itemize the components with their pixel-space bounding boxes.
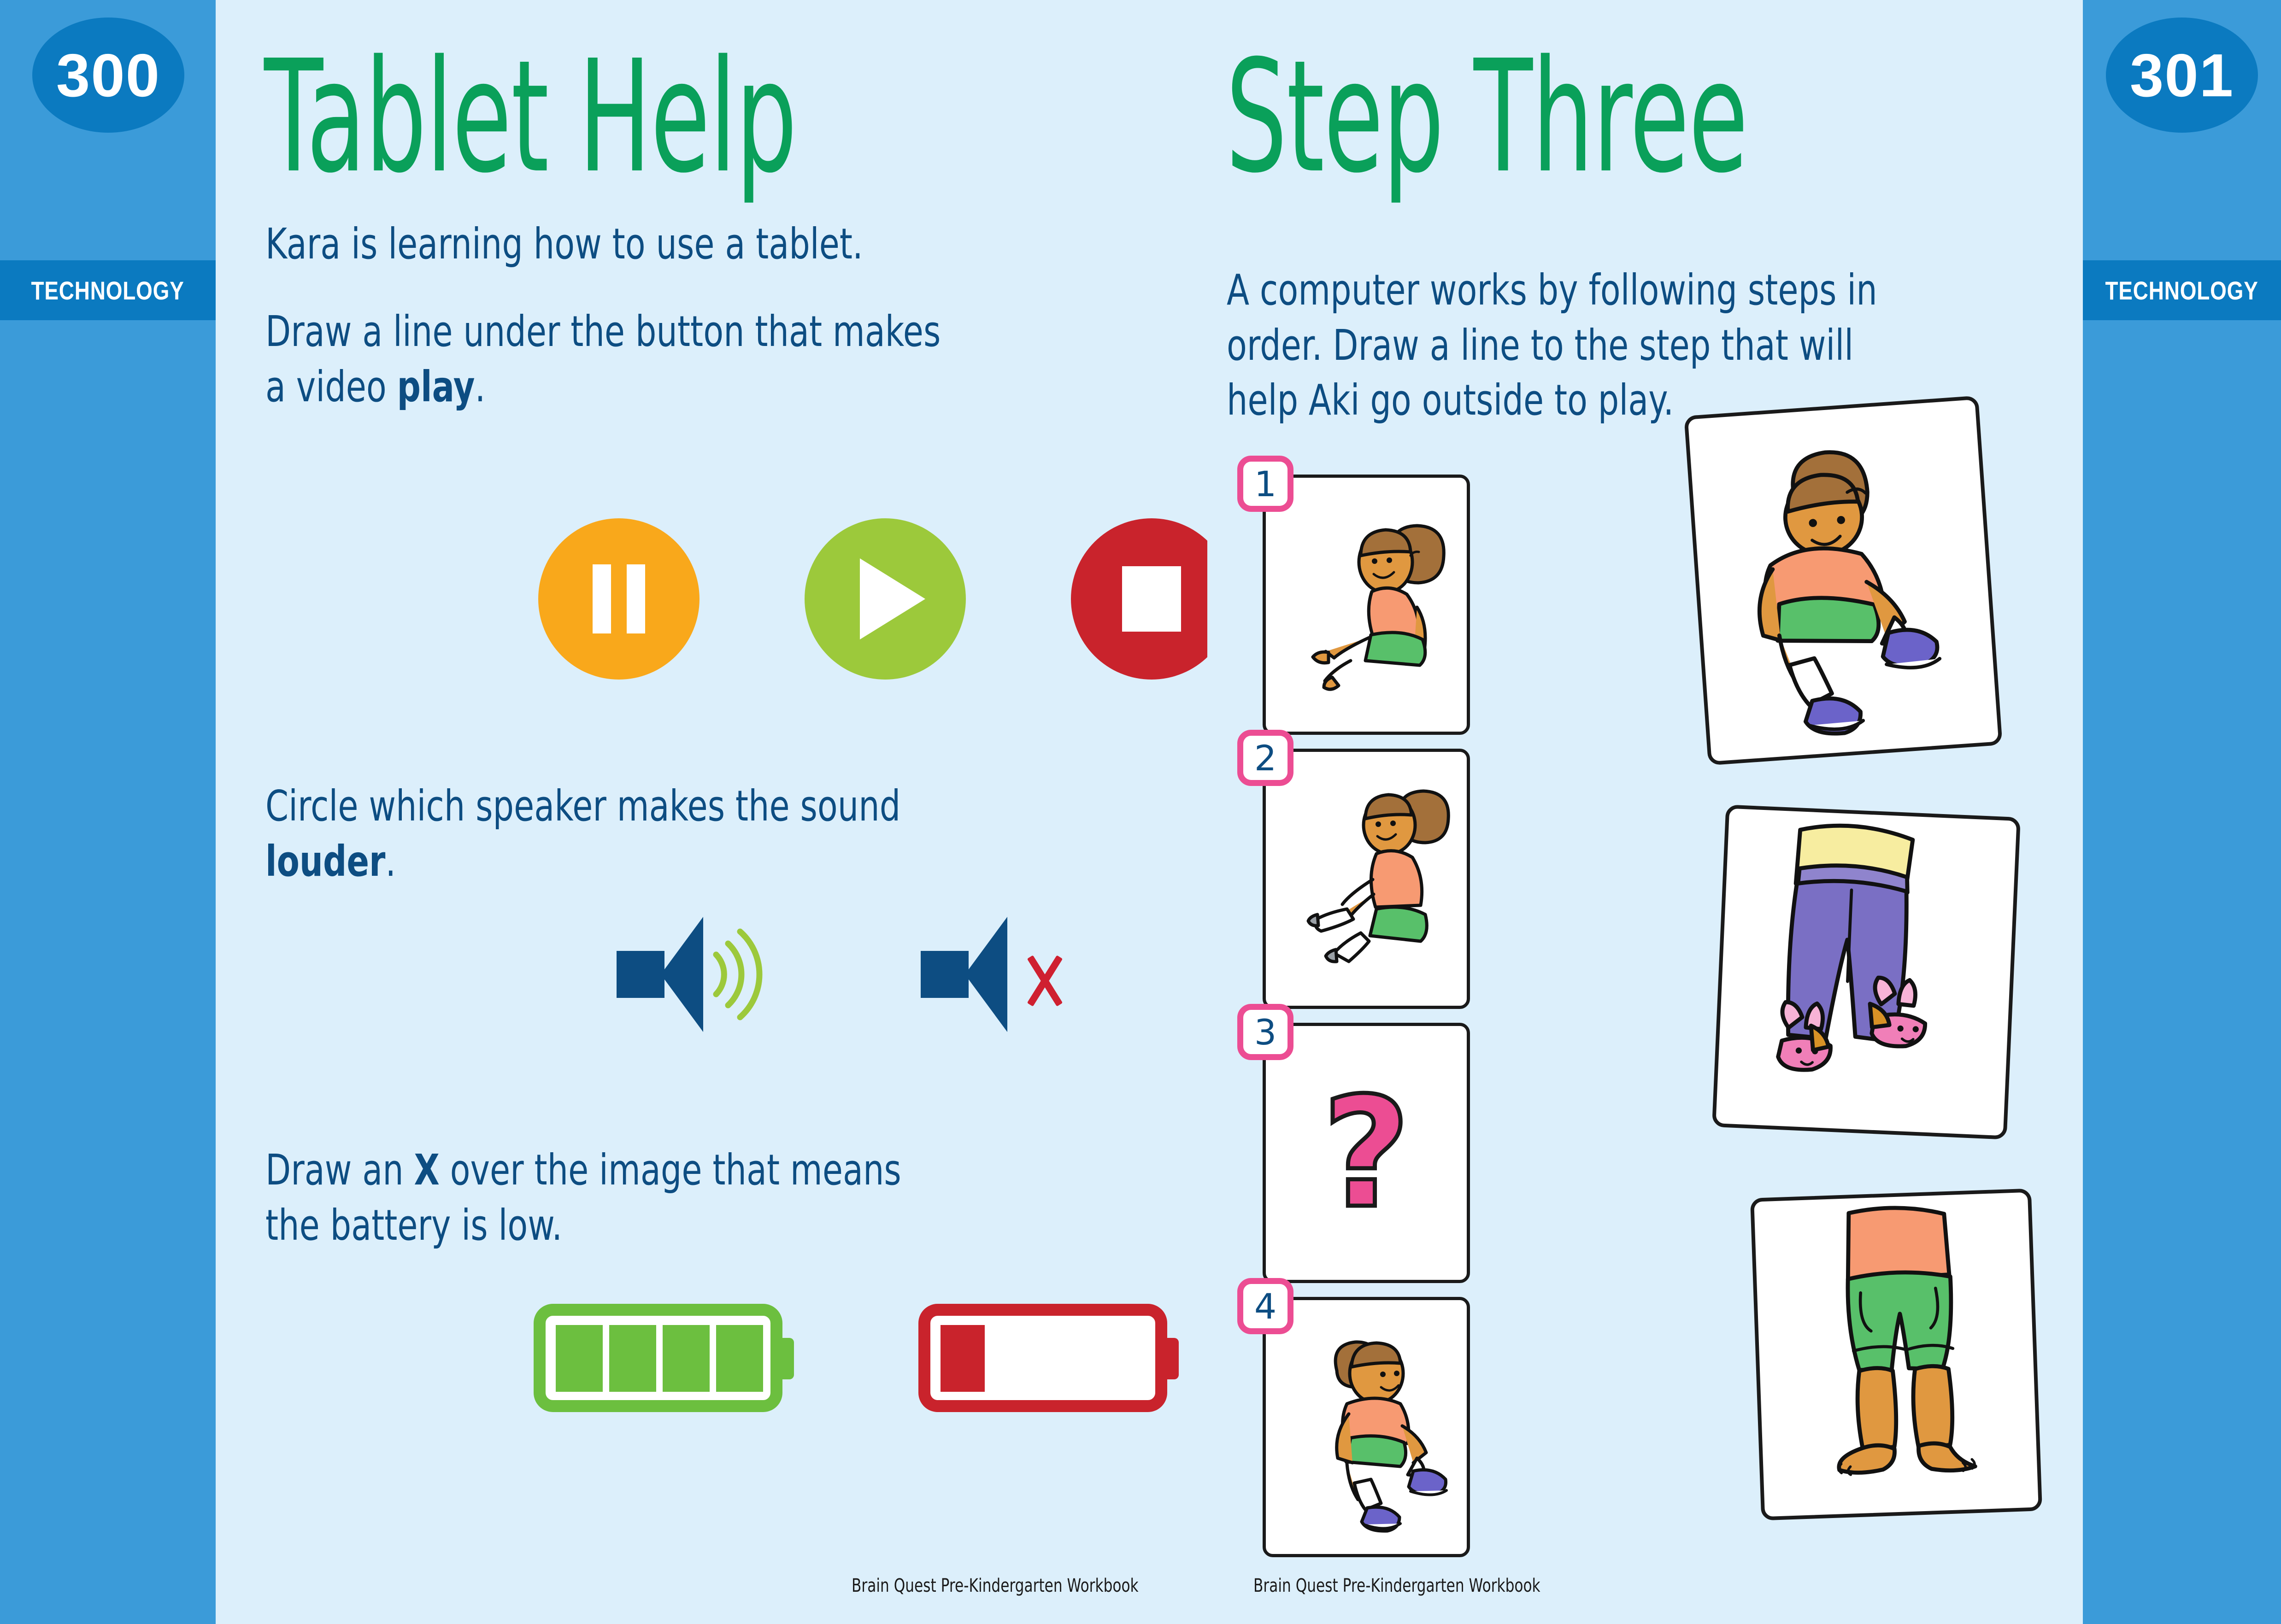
prompt1-bold: play [397, 362, 475, 411]
prompt2-line1: Circle which speaker makes the sound [265, 781, 900, 831]
right-prompt-line2: order. Draw a line to the step that will [1227, 321, 1853, 370]
left-prompt-2: Circle which speaker makes the soundloud… [265, 779, 1200, 889]
battery-choices-row [534, 1304, 1179, 1412]
right-page: Step Three A computer works by following… [1207, 0, 2083, 1624]
pause-icon [593, 564, 645, 633]
left-page-number-badge: 300 [32, 18, 184, 133]
left-page: Tablet Help Kara is learning how to use … [216, 0, 1207, 1624]
left-page-number: 300 [56, 41, 160, 110]
right-prompt-line3: help Aki go outside to play. [1227, 375, 1674, 425]
stop-icon [1122, 566, 1181, 632]
step-art-4 [1266, 1300, 1467, 1554]
left-subject-label: TECHNOLOGY [31, 276, 184, 305]
step-number-3: 3 [1237, 1004, 1293, 1060]
step-card-4[interactable]: 4 [1263, 1297, 1470, 1557]
pause-button[interactable] [538, 518, 700, 680]
step-art-2 [1266, 752, 1467, 1006]
answer-card-pajama-pants[interactable] [1712, 804, 2021, 1139]
left-prompt-1: Draw a line under the button that makesa… [265, 304, 1200, 414]
step-card-2[interactable]: 2 [1263, 749, 1470, 1009]
step-art-3: ? [1266, 1026, 1467, 1280]
prompt3-prefix: Draw an [265, 1145, 414, 1195]
battery-low-icon[interactable] [918, 1304, 1179, 1412]
step-number-4: 4 [1237, 1278, 1293, 1334]
right-prompt-line1: A computer works by following steps in [1227, 265, 1877, 315]
left-page-title: Tablet Help [264, 46, 797, 188]
right-page-title: Step Three [1226, 46, 1747, 188]
speaker-muted-icon[interactable] [921, 917, 1073, 1032]
play-icon [860, 558, 925, 639]
step-number-1: 1 [1237, 456, 1293, 512]
right-page-number: 301 [2130, 41, 2234, 110]
prompt1-line1: Draw a line under the button that makes [265, 307, 941, 356]
prompt3-bold: X [414, 1145, 440, 1195]
sound-waves-icon [708, 921, 777, 1027]
step-sequence: 1 [1263, 475, 1470, 1571]
prompt2-suffix: . [385, 837, 396, 886]
art-girl-tying-sneakers [1688, 399, 1999, 762]
prompt3-line2: the battery is low. [265, 1201, 562, 1250]
mute-x-icon [1019, 956, 1070, 1006]
step-art-1 [1266, 478, 1467, 732]
prompt3-suffix: over the image that means [440, 1145, 901, 1195]
art-pajamas-bunny-slippers [1716, 809, 2016, 1136]
answer-card-tying-shoes[interactable] [1684, 396, 2002, 766]
left-page-rail: 300 TECHNOLOGY [0, 0, 216, 1624]
prompt1-line2-suffix: . [475, 362, 486, 411]
right-page-rail: 301 TECHNOLOGY [2083, 0, 2281, 1624]
answer-card-green-shorts[interactable] [1750, 1189, 2042, 1521]
left-intro-text: Kara is learning how to use a tablet. [265, 217, 1200, 272]
right-page-footer: Brain Quest Pre-Kindergarten Workbook [1253, 1575, 1540, 1596]
left-subject-bar: TECHNOLOGY [0, 260, 216, 320]
left-page-footer: Brain Quest Pre-Kindergarten Workbook [852, 1575, 1139, 1596]
prompt1-line2-prefix: a video [265, 362, 397, 411]
art-green-shorts-bare-feet [1754, 1192, 2039, 1517]
media-buttons-row [538, 518, 1232, 680]
step-number-2: 2 [1237, 730, 1293, 786]
play-button[interactable] [805, 518, 966, 680]
speaker-choices-row [617, 917, 1073, 1032]
step-card-1[interactable]: 1 [1263, 475, 1470, 735]
right-page-number-badge: 301 [2106, 18, 2258, 133]
step-card-3[interactable]: 3 ? [1263, 1023, 1470, 1283]
prompt2-bold: louder [265, 837, 385, 886]
speaker-loud-icon[interactable] [617, 917, 769, 1032]
left-prompt-3: Draw an X over the image that meansthe b… [265, 1143, 1200, 1253]
question-mark-icon: ? [1322, 1077, 1410, 1229]
workbook-spread: 300 TECHNOLOGY 301 TECHNOLOGY Tablet Hel… [0, 0, 2281, 1624]
battery-full-icon[interactable] [534, 1304, 794, 1412]
